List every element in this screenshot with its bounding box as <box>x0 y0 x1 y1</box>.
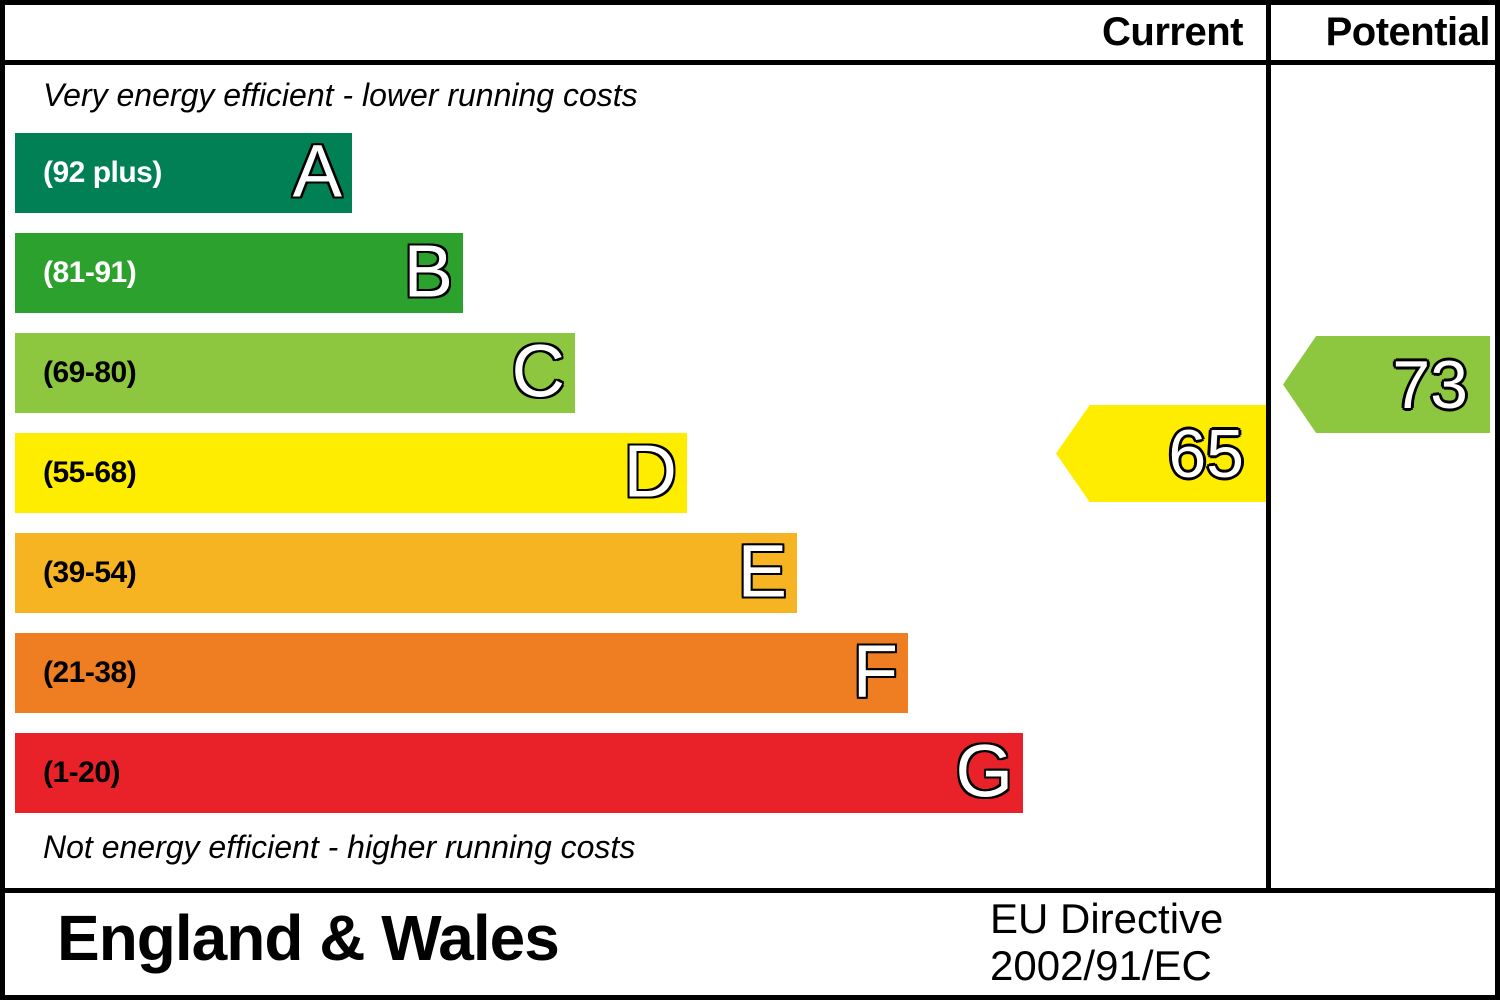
band-g: (1-20)G <box>15 733 1023 813</box>
column-header-current: Current <box>905 5 1243 60</box>
column-divider <box>1266 5 1271 888</box>
potential-rating-arrow: 73 <box>1283 336 1490 433</box>
band-letter-f: F <box>853 635 898 709</box>
band-range-g: (1-20) <box>43 756 120 790</box>
header-separator <box>5 60 1495 65</box>
potential-rating-value: 73 <box>1392 351 1468 419</box>
band-letter-a: A <box>293 135 342 209</box>
caption-not-efficient: Not energy efficient - higher running co… <box>43 829 635 866</box>
column-header-potential: Potential <box>1277 5 1490 60</box>
footer-directive-line1: EU Directive <box>990 895 1223 942</box>
band-letter-b: B <box>404 235 453 309</box>
footer-region-label: England & Wales <box>57 901 559 975</box>
current-rating-value: 65 <box>1168 420 1244 488</box>
caption-very-efficient: Very energy efficient - lower running co… <box>43 77 638 114</box>
footer-directive: EU Directive 2002/91/EC <box>990 895 1223 989</box>
band-range-d: (55-68) <box>43 456 136 490</box>
band-c: (69-80)C <box>15 333 575 413</box>
band-range-b: (81-91) <box>43 256 136 290</box>
band-f: (21-38)F <box>15 633 908 713</box>
band-range-f: (21-38) <box>43 656 136 690</box>
band-letter-c: C <box>512 335 565 409</box>
band-range-a: (92 plus) <box>43 156 162 190</box>
chart-footer: England & Wales EU Directive 2002/91/EC <box>5 893 1495 995</box>
current-rating-arrow: 65 <box>1056 405 1266 502</box>
band-letter-g: G <box>955 735 1013 809</box>
epc-energy-efficiency-chart: Current Potential Very energy efficient … <box>0 0 1500 1000</box>
band-letter-e: E <box>738 535 787 609</box>
band-a: (92 plus)A <box>15 133 352 213</box>
band-e: (39-54)E <box>15 533 797 613</box>
band-range-c: (69-80) <box>43 356 136 390</box>
footer-directive-line2: 2002/91/EC <box>990 942 1223 989</box>
band-range-e: (39-54) <box>43 556 136 590</box>
band-d: (55-68)D <box>15 433 687 513</box>
chart-header: Current Potential <box>5 5 1495 60</box>
band-letter-d: D <box>624 435 677 509</box>
band-b: (81-91)B <box>15 233 463 313</box>
